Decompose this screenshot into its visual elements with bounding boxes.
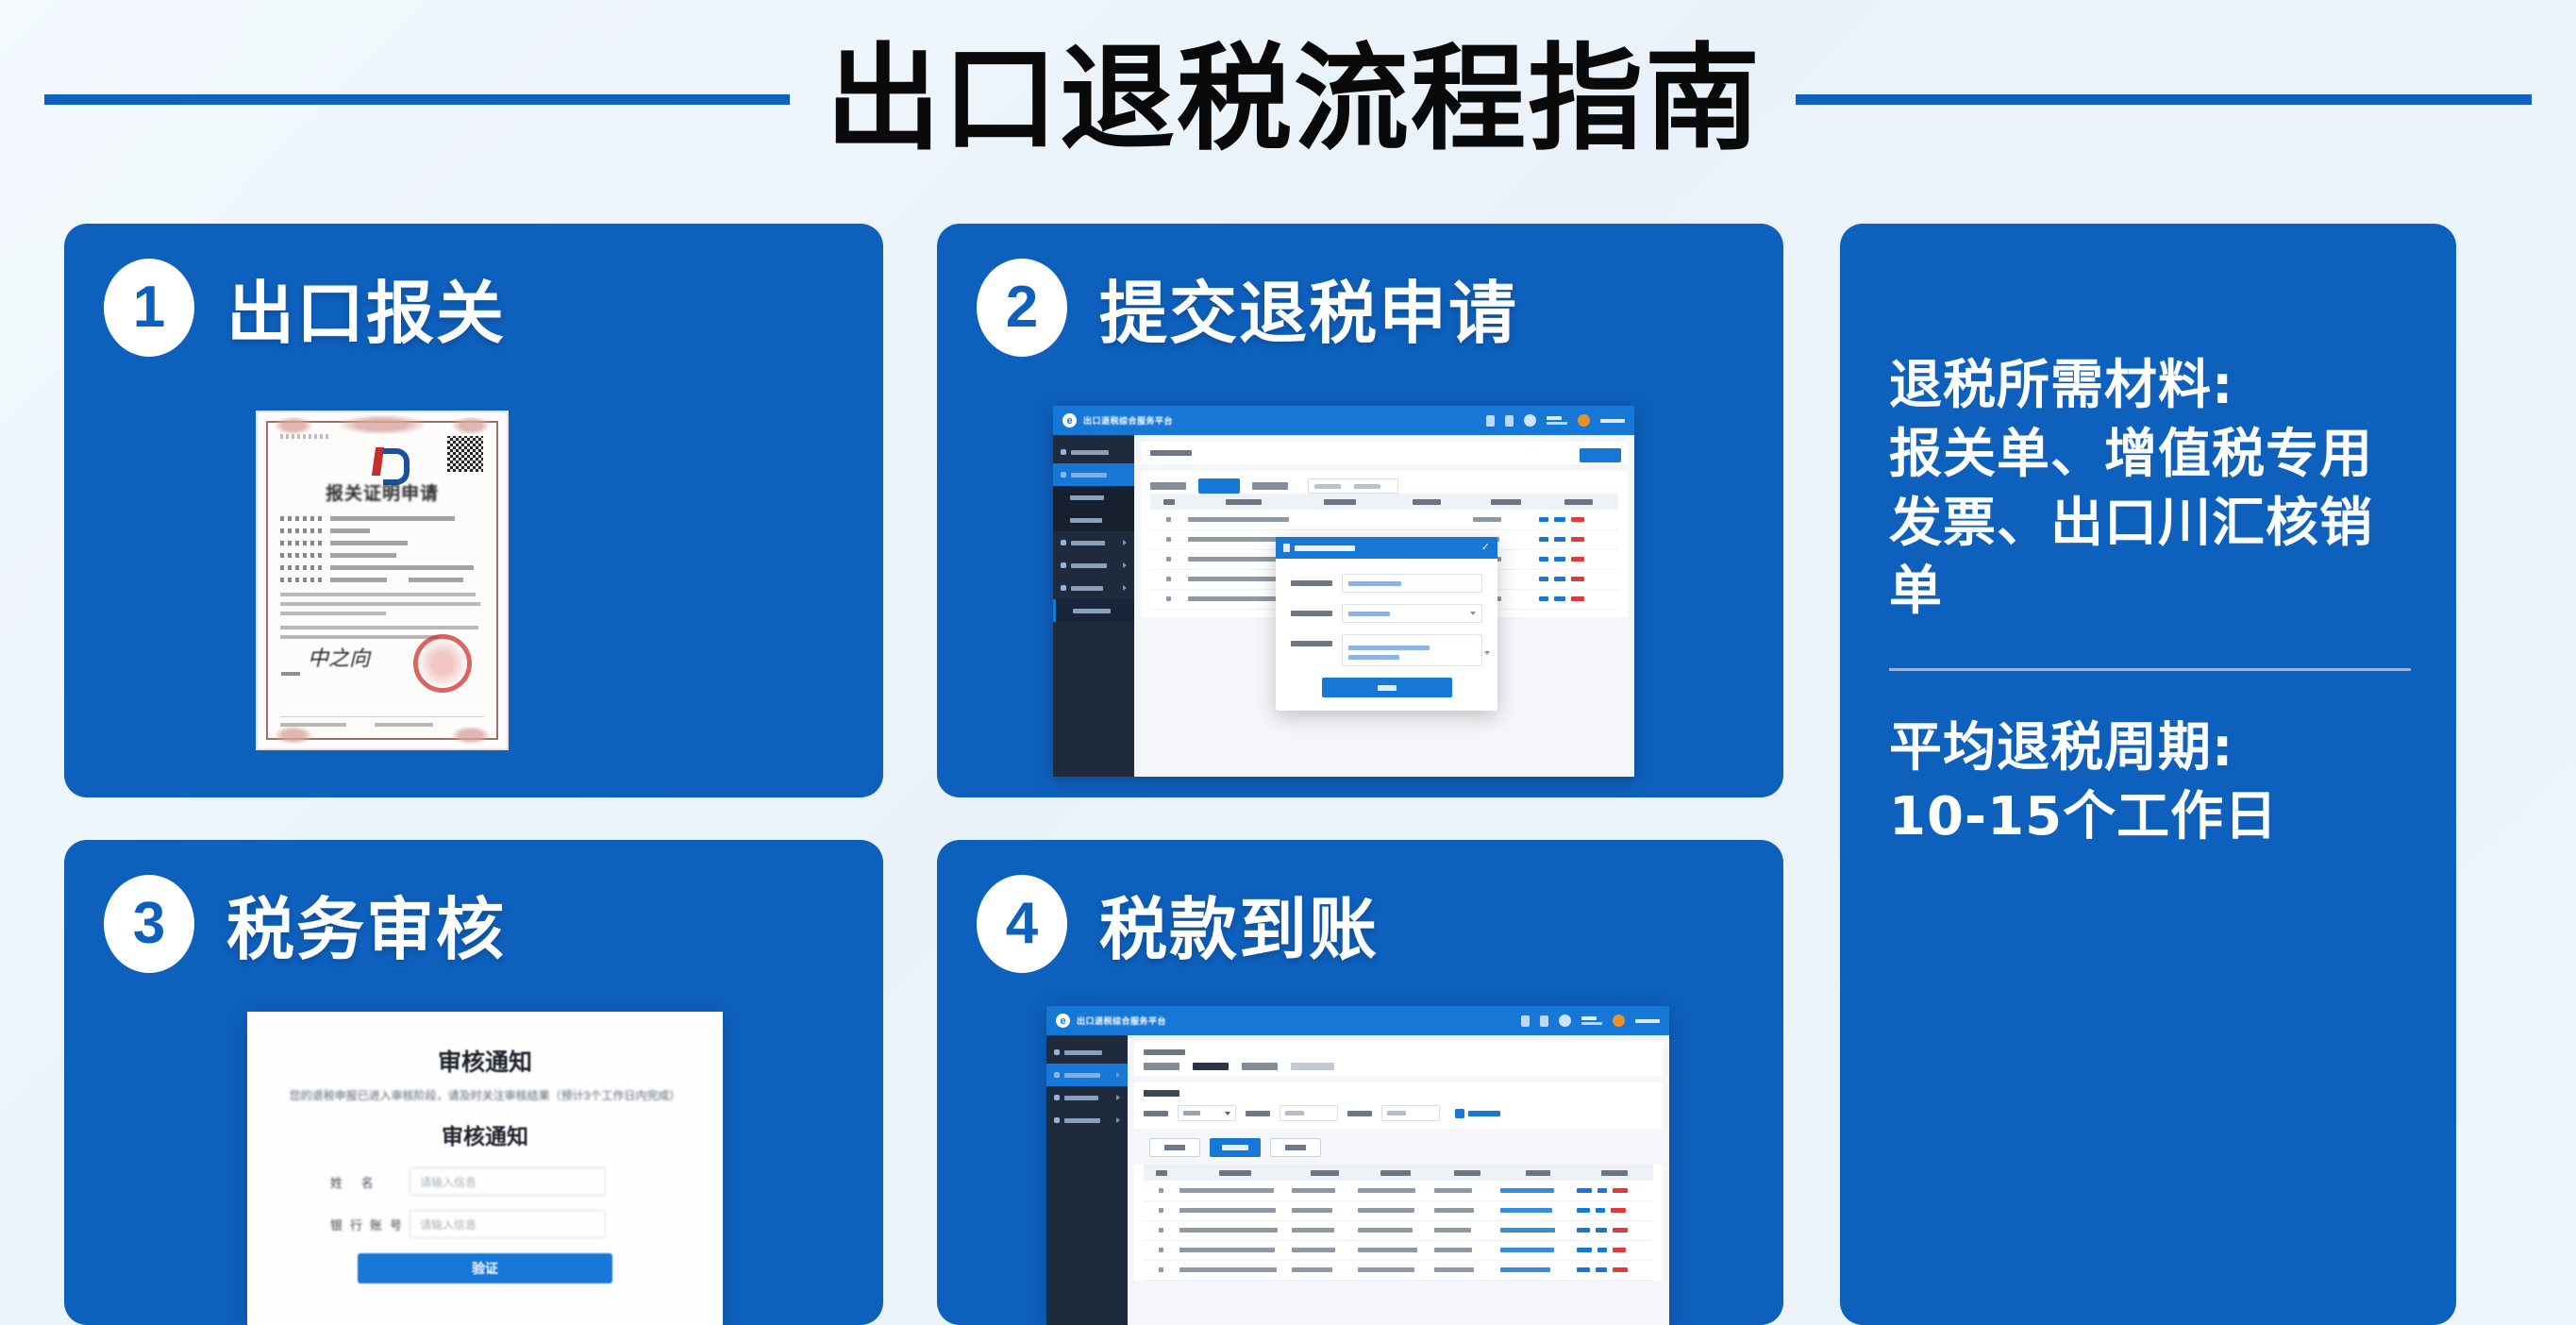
certificate-field [280, 541, 484, 545]
ornament-corner-icon [451, 416, 491, 435]
ornament-corner-icon [451, 726, 491, 745]
title-rule-right [1796, 94, 2532, 105]
certificate-field [280, 528, 484, 533]
sidebar-item-export[interactable] [1046, 1109, 1128, 1132]
sidebar-item-arrival[interactable] [1046, 1064, 1128, 1086]
notice-subheading: 审核通知 [285, 1118, 685, 1150]
refund-type-select[interactable] [1342, 634, 1482, 666]
step-1-title: 出口报关 [226, 258, 506, 357]
step-3-header: 3 税务审核 [64, 840, 883, 973]
ornament-corner-icon [274, 416, 313, 435]
modal-field-row [1291, 574, 1482, 593]
form-icon [1283, 544, 1290, 552]
table-row[interactable] [1144, 1200, 1653, 1220]
status-input[interactable] [1381, 1105, 1440, 1121]
message-icon[interactable] [1505, 415, 1514, 427]
step-2-header: 2 提交退税申请 [937, 224, 1783, 357]
sidebar-subitem-active[interactable] [1053, 599, 1134, 622]
app-main-content: ✓ [1134, 435, 1634, 777]
step-card-1[interactable]: 1 出口报关 报关证明申请 [64, 224, 883, 797]
status-label [1347, 1111, 1372, 1116]
sidebar-subitem-1[interactable] [1053, 486, 1134, 509]
qr-code-icon [447, 436, 483, 472]
step-2-title: 提交退税申请 [1099, 258, 1518, 357]
certificate-field [280, 516, 484, 521]
app-brand-name: 出口退税综合服务平台 [1077, 1015, 1166, 1027]
certificate-field [280, 565, 484, 570]
username-label [1600, 419, 1625, 423]
tab-all[interactable] [1150, 482, 1186, 490]
sidebar-item-dashboard[interactable] [1053, 441, 1134, 463]
certificate-serial [280, 434, 331, 439]
certificate-footer [280, 716, 484, 727]
certificate-field [280, 578, 484, 582]
step-card-2[interactable]: 2 提交退税申请 e 出口退税综合服务平台 [937, 224, 1783, 797]
notice-field-row: 银行账号 请输入信息 [285, 1210, 685, 1238]
date-range-input[interactable] [1308, 478, 1398, 494]
page-title: 出口退税流程指南 [826, 42, 1762, 157]
app-main-content [1128, 1035, 1669, 1325]
tax-type-label [1246, 1111, 1270, 1116]
page-header: 出口退税流程指南 [0, 19, 2576, 179]
notification-icon[interactable] [1521, 1015, 1530, 1027]
arrival-table [1144, 1165, 1653, 1281]
title-rule-left [44, 94, 790, 105]
modal-header: ✓ [1276, 537, 1497, 559]
table-header-row [1144, 1165, 1653, 1181]
table-header-row [1150, 494, 1618, 510]
modal-field-row [1291, 634, 1482, 666]
declaration-number-input[interactable] [1342, 574, 1482, 593]
field-label [1291, 580, 1332, 586]
step-4-header: 4 税款到账 [937, 840, 1783, 973]
name-field-label: 姓 名 [330, 1173, 393, 1191]
app-brand-name: 出口退税综合服务平台 [1083, 414, 1173, 427]
reset-button[interactable] [1149, 1138, 1200, 1157]
step-1-header: 1 出口报关 [64, 224, 883, 357]
bank-account-field-label: 银行账号 [330, 1216, 393, 1233]
new-declaration-modal[interactable]: ✓ [1276, 537, 1497, 711]
sidebar-item-records[interactable] [1046, 1086, 1128, 1109]
steps-grid: 1 出口报关 报关证明申请 [64, 224, 1783, 1325]
breadcrumb [1150, 450, 1192, 456]
table-row[interactable] [1144, 1260, 1653, 1280]
customs-certificate: 报关证明申请 [256, 411, 509, 750]
app-sidebar[interactable] [1053, 435, 1134, 777]
sidebar-item-declaration[interactable] [1053, 463, 1134, 486]
sidebar-item-settings[interactable] [1053, 554, 1134, 577]
help-icon[interactable] [1559, 1015, 1571, 1027]
signature: 中之向 [308, 642, 370, 672]
new-declaration-button[interactable] [1580, 448, 1621, 462]
cycle-body: 10-15个工作日 [1889, 783, 2411, 852]
table-row[interactable] [1144, 1181, 1653, 1200]
year-label [1144, 1111, 1168, 1116]
workspace-switcher[interactable] [1581, 1016, 1602, 1025]
app-logo-icon: e [1056, 1014, 1070, 1028]
avatar[interactable] [1613, 1015, 1625, 1027]
tab-submitted[interactable] [1252, 482, 1288, 490]
step-1-number-badge: 1 [104, 259, 194, 357]
modal-submit-button[interactable] [1322, 678, 1452, 697]
certificate-field [280, 553, 484, 558]
step-2-number-badge: 2 [977, 259, 1067, 357]
certificate-body-text [280, 593, 484, 615]
close-icon[interactable]: ✓ [1481, 543, 1490, 553]
year-select[interactable] [1178, 1105, 1236, 1121]
tax-type-input[interactable] [1280, 1105, 1338, 1121]
results-panel [1134, 1165, 1663, 1281]
app-sidebar[interactable] [1046, 1035, 1128, 1325]
materials-body: 报关单、增值税专用发票、出口川汇核销单 [1889, 421, 2411, 627]
certificate-title: 报关证明申请 [280, 479, 484, 505]
notification-icon[interactable] [1486, 415, 1495, 427]
table-row[interactable] [1144, 1240, 1653, 1260]
app-topbar: e 出口退税综合服务平台 [1053, 406, 1634, 435]
field-label [1291, 611, 1332, 616]
notice-subtitle: 您的退税申报已进入审核阶段，请及时关注审核结果（预计3个工作日内完成） [285, 1087, 685, 1103]
step-card-4[interactable]: 4 税款到账 e 出口退税综合服务平台 [937, 840, 1783, 1325]
workspace-switcher[interactable] [1547, 416, 1567, 425]
period-select[interactable] [1342, 604, 1482, 623]
sidebar-item-query[interactable] [1053, 531, 1134, 554]
step-card-3[interactable]: 3 税务审核 审核通知 您的退税申报已进入审核阶段，请及时关注审核结果（预计3个… [64, 840, 883, 1325]
ornament-corner-icon [274, 726, 313, 745]
refund-application-screenshot: e 出口退税综合服务平台 [1053, 406, 1634, 777]
help-icon[interactable] [1524, 414, 1536, 427]
step-3-number-badge: 3 [104, 875, 194, 973]
step-4-title: 税款到账 [1099, 874, 1379, 973]
search-panel [1134, 1082, 1663, 1129]
tab-export-records[interactable] [1242, 1063, 1278, 1070]
field-label [1291, 641, 1332, 646]
breadcrumb-panel [1141, 442, 1628, 464]
info-panel: 退税所需材料: 报关单、增值税专用发票、出口川汇核销单 平均退税周期: 10-1… [1840, 224, 2456, 1325]
breadcrumb [1144, 1049, 1185, 1055]
notice-heading: 审核通知 [285, 1044, 685, 1078]
step-4-number-badge: 4 [977, 875, 1067, 973]
notice-submit-button[interactable]: 验证 [358, 1253, 612, 1283]
info-divider [1889, 668, 2411, 671]
bank-account-input[interactable]: 请输入信息 [410, 1210, 606, 1238]
tab-bar[interactable] [1150, 478, 1618, 494]
signature-label [281, 671, 300, 676]
search-section-title [1144, 1090, 1179, 1097]
app-topbar: e 出口退税综合服务平台 [1046, 1006, 1669, 1035]
tab-unsubmitted[interactable] [1198, 478, 1240, 494]
tab-refund-detail[interactable] [1193, 1063, 1229, 1070]
avatar[interactable] [1578, 414, 1590, 427]
sidebar-item-reports[interactable] [1053, 577, 1134, 599]
materials-heading: 退税所需材料: [1889, 352, 2411, 421]
tab-arrival-query[interactable] [1144, 1063, 1179, 1070]
ornament-top-icon [337, 414, 427, 435]
refund-arrival-screenshot: e 出口退税综合服务平台 [1046, 1006, 1669, 1325]
customs-logo-icon [355, 447, 410, 478]
breadcrumb-panel [1134, 1042, 1663, 1076]
filter-icon [1455, 1109, 1464, 1118]
table-row[interactable] [1150, 510, 1618, 529]
table-row[interactable] [1144, 1220, 1653, 1240]
name-input[interactable]: 请输入信息 [410, 1167, 606, 1196]
sidebar-item-dashboard[interactable] [1046, 1041, 1128, 1064]
modal-body [1276, 559, 1497, 711]
red-seal-icon [413, 634, 472, 693]
notice-field-row: 姓 名 请输入信息 [285, 1167, 685, 1196]
export-button[interactable] [1270, 1138, 1321, 1157]
action-button-row [1149, 1138, 1663, 1157]
search-row [1144, 1105, 1653, 1121]
step-3-title: 税务审核 [226, 874, 506, 973]
username-label [1635, 1019, 1660, 1023]
query-button[interactable] [1210, 1138, 1261, 1157]
modal-field-row [1291, 604, 1482, 623]
sidebar-subitem-2[interactable] [1053, 509, 1134, 531]
message-icon[interactable] [1540, 1015, 1548, 1027]
more-filters-link[interactable] [1455, 1109, 1500, 1118]
audit-notice-form: 审核通知 您的退税申报已进入审核阶段，请及时关注审核结果（预计3个工作日内完成）… [247, 1012, 723, 1325]
modal-title [1295, 545, 1355, 551]
tab-extra[interactable] [1291, 1063, 1334, 1070]
cycle-heading: 平均退税周期: [1889, 714, 2411, 783]
app-logo-icon: e [1062, 413, 1077, 428]
